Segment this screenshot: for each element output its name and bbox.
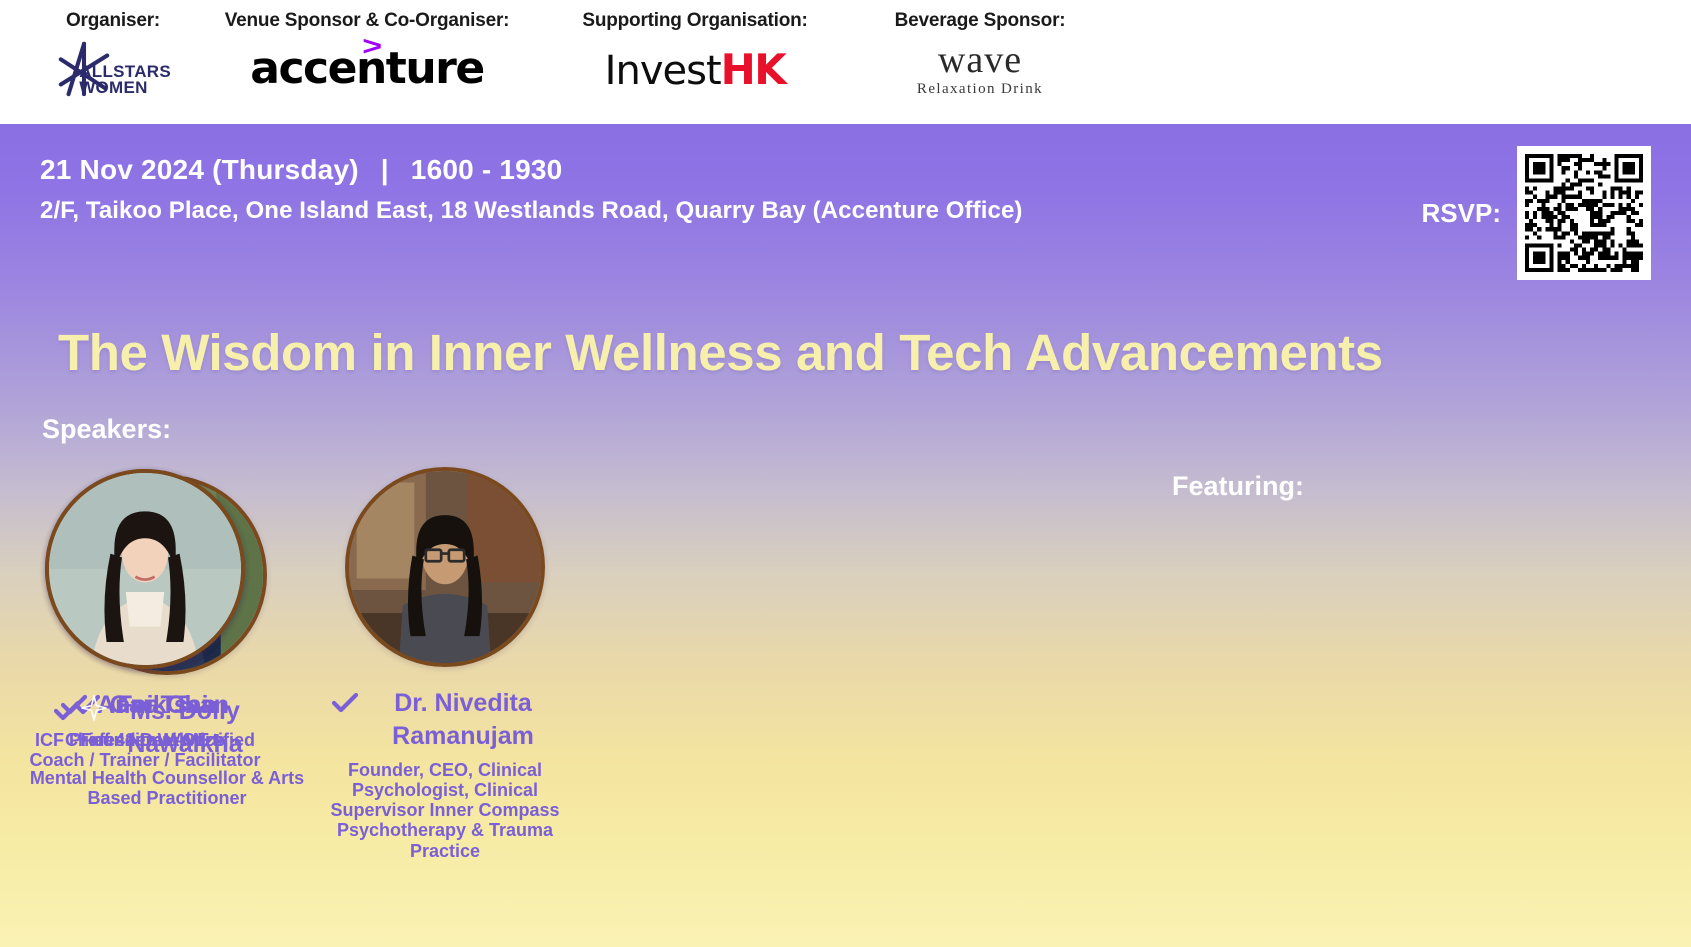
wave-logo: wave Relaxation Drink xyxy=(855,38,1105,100)
speaker-card: Dr. Nivedita Ramanujam Founder, CEO, Cli… xyxy=(300,467,590,861)
qr-code-image xyxy=(1525,154,1643,272)
featured-speaker-card: Fei Tsai Founder WAVE xyxy=(0,469,290,750)
event-poster: Organiser: ALLSTARS WOMEN xyxy=(0,0,1691,947)
accenture-logo: accenture > xyxy=(222,38,512,100)
featured-photo-fei-tsai xyxy=(45,469,245,669)
sponsor-beverage: Beverage Sponsor: wave Relaxation Drink xyxy=(855,10,1105,100)
sponsor-supporting-label: Supporting Organisation: xyxy=(570,10,820,32)
date-time-separator: | xyxy=(381,154,389,186)
hk-word: HK xyxy=(721,45,786,94)
event-date: 21 Nov 2024 (Thursday) xyxy=(40,154,359,186)
speakers-list: Ms. Dolly Nawalkha Mental Health Counsel… xyxy=(0,469,1691,947)
sponsor-supporting-organisation: Supporting Organisation: InvestHK xyxy=(570,10,820,100)
poster-body: 21 Nov 2024 (Thursday) | 1600 - 1930 2/F… xyxy=(0,124,1691,947)
featured-role: Founder WAVE xyxy=(0,730,290,750)
speaker-role: Mental Health Counsellor & Arts Based Pr… xyxy=(22,768,312,808)
speakers-section-label: Speakers: xyxy=(42,414,171,445)
wave-tagline: Relaxation Drink xyxy=(917,81,1043,98)
featured-name: Fei Tsai xyxy=(117,689,208,722)
accenture-arrow-icon: > xyxy=(362,32,382,59)
rsvp-qr-code[interactable] xyxy=(1517,146,1651,280)
featured-name-row: Fei Tsai xyxy=(0,689,290,722)
page-title: The Wisdom in Inner Wellness and Tech Ad… xyxy=(58,323,1383,382)
sparkle-icon xyxy=(81,695,107,721)
speaker-photo-nivedita-ramanujam xyxy=(345,467,545,667)
allstars-women-logo: ALLSTARS WOMEN xyxy=(18,38,208,100)
sponsor-venue-coorganiser: Venue Sponsor & Co-Organiser: accenture … xyxy=(222,10,512,100)
event-details: 21 Nov 2024 (Thursday) | 1600 - 1930 2/F… xyxy=(40,154,1023,225)
rsvp-label: RSVP: xyxy=(1422,198,1501,229)
sponsor-venue-label: Venue Sponsor & Co-Organiser: xyxy=(222,10,512,32)
women-word: WOMEN xyxy=(79,80,171,96)
investhk-logo: InvestHK xyxy=(570,38,820,100)
check-icon xyxy=(332,693,358,713)
speaker-name: Dr. Nivedita Ramanujam xyxy=(368,687,558,752)
event-date-time-row: 21 Nov 2024 (Thursday) | 1600 - 1930 xyxy=(40,154,1023,186)
sponsor-organiser: Organiser: ALLSTARS WOMEN xyxy=(18,10,208,100)
sponsor-organiser-label: Organiser: xyxy=(18,10,208,32)
invest-word: Invest xyxy=(605,48,721,94)
wave-wordmark: wave xyxy=(917,41,1043,79)
speaker-name-row: Dr. Nivedita Ramanujam xyxy=(300,687,590,752)
rsvp-block[interactable]: RSVP: xyxy=(1422,146,1651,280)
event-time: 1600 - 1930 xyxy=(411,154,563,186)
sponsor-beverage-label: Beverage Sponsor: xyxy=(855,10,1105,32)
event-venue: 2/F, Taikoo Place, One Island East, 18 W… xyxy=(40,197,1023,225)
sponsor-header-bar: Organiser: ALLSTARS WOMEN xyxy=(0,0,1691,124)
speaker-role: Founder, CEO, Clinical Psychologist, Cli… xyxy=(300,760,590,861)
